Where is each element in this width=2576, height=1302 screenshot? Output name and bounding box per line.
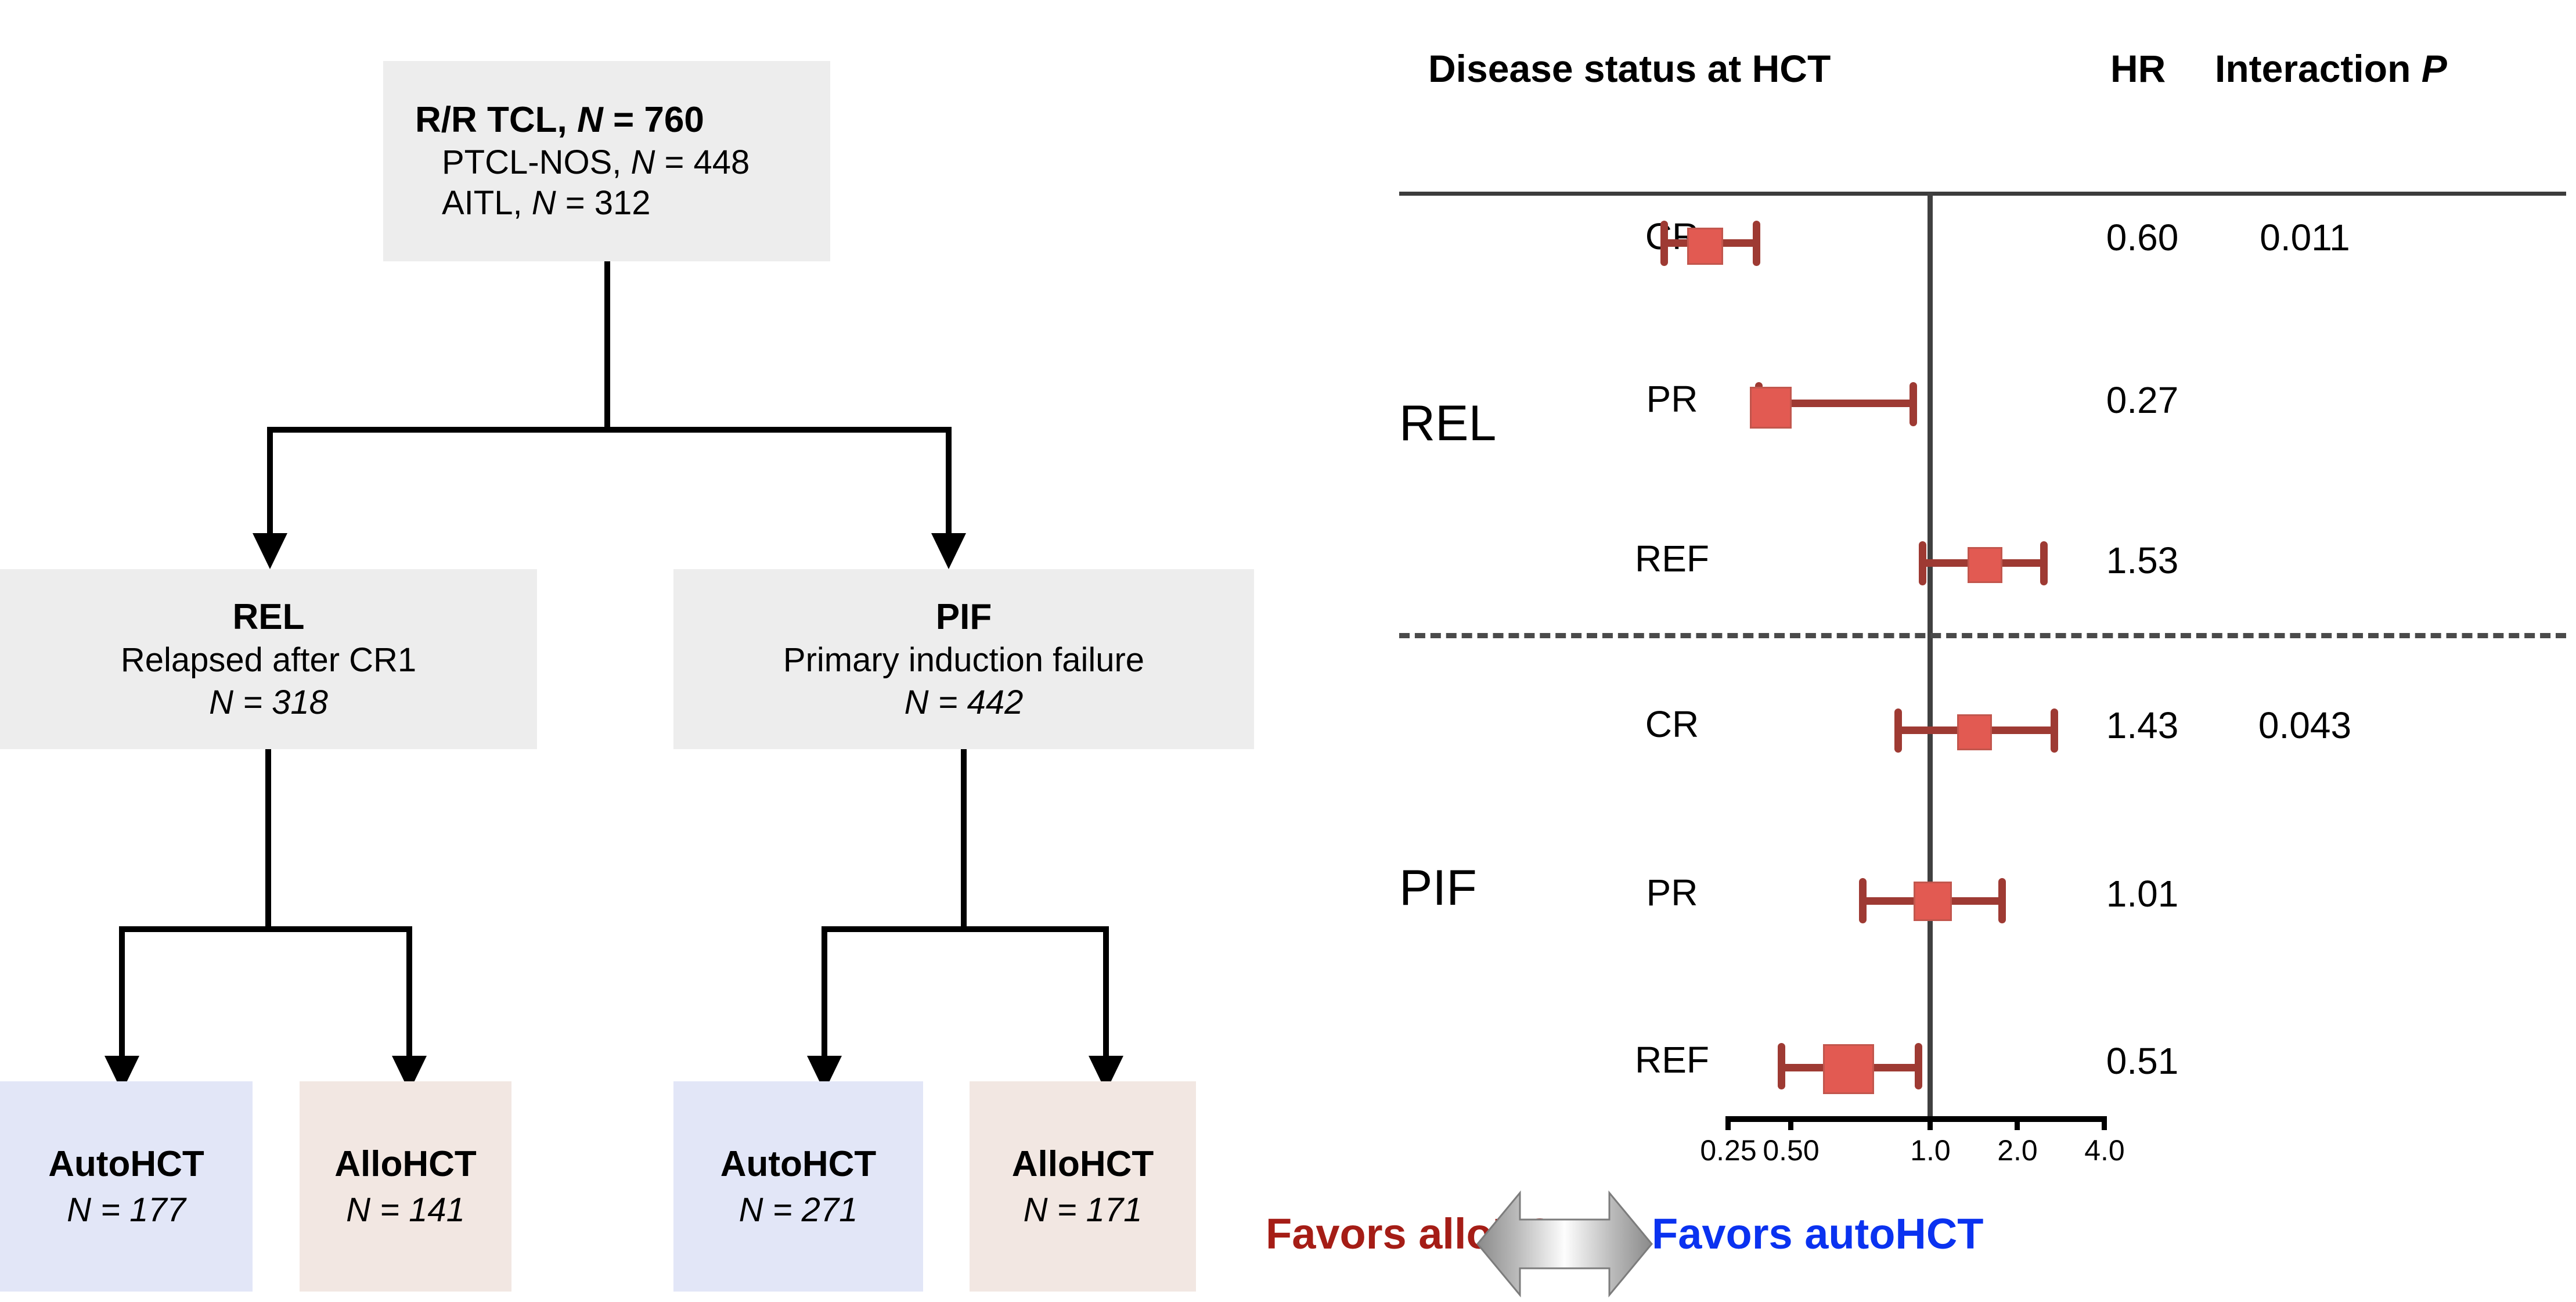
hr-value-pif-ref: 0.51 (2076, 1040, 2209, 1082)
pif-n: N = 442 (905, 682, 1024, 724)
forest-plot-panel: Disease status at HCT HR Interaction P R… (1382, 35, 2576, 1292)
pif-title: PIF (936, 595, 992, 640)
row-label-pif-ref: REF (1614, 1038, 1730, 1081)
ci-cap-low-pif-cr (1894, 708, 1902, 753)
ci-cap-low-rel-cr (1660, 221, 1668, 266)
row-label-rel-ref: REF (1614, 537, 1730, 580)
marker-rel-ref (1968, 547, 2002, 583)
x-tick-label-2: 1.0 (1884, 1134, 1977, 1167)
x-tick-4 (2102, 1116, 2107, 1130)
flowchart-box-rel: REL Relapsed after CR1 N = 318 (0, 569, 537, 749)
ci-cap-low-pif-ref (1778, 1043, 1785, 1089)
arrowhead-to-pif (931, 533, 966, 569)
interaction-p-pif: 0.043 (2212, 704, 2398, 747)
row-label-pif-cr: CR (1614, 703, 1730, 746)
x-tick-3 (2015, 1116, 2020, 1130)
header-interaction-p: Interaction P (2215, 46, 2447, 91)
x-tick-label-1: 0.50 (1733, 1134, 1849, 1167)
ci-cap-high-pif-pr (1998, 878, 2006, 923)
header-hr: HR (2110, 46, 2166, 91)
connector-rel-horizontal (122, 926, 412, 932)
connector-pif-right-down (1103, 926, 1109, 1060)
rel-allohct-title: AlloHCT (334, 1141, 477, 1188)
rel-autohct-n: N = 177 (67, 1188, 186, 1232)
rel-title: REL (233, 595, 305, 640)
connector-rel-trunk (265, 749, 271, 929)
connector-trunk-horizontal (270, 427, 950, 433)
marker-pif-pr (1914, 882, 1952, 921)
top-box-line3: AITL, N = 312 (415, 183, 650, 224)
marker-rel-pr (1750, 387, 1792, 429)
rel-subtitle: Relapsed after CR1 (121, 639, 416, 682)
reference-line (1928, 193, 1933, 1122)
hr-value-pif-cr: 1.43 (2076, 704, 2209, 747)
connector-trunk-vertical (604, 261, 610, 430)
top-box-line2: PTCL-NOS, N = 448 (415, 142, 750, 184)
hr-value-rel-pr: 0.27 (2076, 379, 2209, 422)
connector-right-down (946, 427, 952, 537)
pif-autohct-title: AutoHCT (720, 1141, 877, 1188)
flowchart-panel: R/R TCL, N = 760 PTCL-NOS, N = 448 AITL,… (0, 0, 1382, 1292)
double-arrow-icon (1475, 1186, 1655, 1302)
connector-left-down (267, 427, 273, 537)
interaction-p-rel: 0.011 (2212, 216, 2398, 259)
marker-rel-cr (1687, 228, 1723, 265)
marker-pif-cr (1957, 714, 1992, 750)
connector-pif-trunk (961, 749, 967, 929)
x-tick-label-4: 4.0 (2058, 1134, 2151, 1167)
flowchart-box-pif: PIF Primary induction failure N = 442 (673, 569, 1254, 749)
hr-value-rel-cr: 0.60 (2076, 216, 2209, 259)
top-box-title: R/R TCL, N = 760 (415, 98, 704, 142)
top-rule (1399, 192, 2566, 196)
row-label-pif-pr: PR (1614, 871, 1730, 914)
favors-autohct-label: Favors autoHCT (1652, 1209, 1984, 1258)
group-label-rel: REL (1399, 395, 1496, 452)
x-axis-line (1725, 1116, 2106, 1122)
hr-value-rel-ref: 1.53 (2076, 539, 2209, 582)
ci-cap-high-rel-cr (1753, 221, 1760, 266)
row-label-rel-pr: PR (1614, 377, 1730, 420)
x-tick-1 (1788, 1116, 1793, 1130)
arrowhead-to-rel (253, 533, 287, 569)
flowchart-box-rel-allohct: AlloHCT N = 141 (300, 1081, 511, 1292)
connector-pif-left-down (822, 926, 827, 1060)
pif-autohct-n: N = 271 (739, 1188, 858, 1232)
rel-n: N = 318 (209, 682, 328, 724)
flowchart-box-pif-autohct: AutoHCT N = 271 (673, 1081, 923, 1292)
connector-rel-right-down (406, 926, 412, 1060)
rel-allohct-n: N = 141 (346, 1188, 465, 1232)
header-disease-status: Disease status at HCT (1428, 46, 1831, 91)
marker-pif-ref (1823, 1044, 1874, 1094)
flowchart-box-rel-autohct: AutoHCT N = 177 (0, 1081, 253, 1292)
x-tick-0 (1725, 1116, 1731, 1130)
favors-allohct-label: Favors alloHCT (1266, 1209, 1490, 1258)
ci-cap-high-rel-pr (1910, 382, 1917, 426)
hr-value-pif-pr: 1.01 (2076, 872, 2209, 915)
pif-subtitle: Primary induction failure (783, 639, 1144, 682)
connector-pif-horizontal (824, 926, 1109, 932)
group-label-pif: PIF (1399, 859, 1477, 917)
pif-allohct-title: AlloHCT (1012, 1141, 1154, 1188)
flowchart-box-pif-allohct: AlloHCT N = 171 (970, 1081, 1196, 1292)
ci-cap-low-rel-ref (1919, 541, 1926, 585)
x-tick-2 (1928, 1116, 1933, 1130)
ci-cap-high-rel-ref (2040, 541, 2048, 585)
ci-cap-high-pif-ref (1915, 1043, 1922, 1089)
flowchart-top-box: R/R TCL, N = 760 PTCL-NOS, N = 448 AITL,… (383, 61, 830, 261)
group-separator (1399, 633, 2566, 638)
ci-cap-low-pif-pr (1859, 878, 1867, 923)
rel-autohct-title: AutoHCT (48, 1141, 204, 1188)
x-tick-label-3: 2.0 (1971, 1134, 2064, 1167)
connector-rel-left-down (119, 926, 125, 1060)
header-interaction-p-text: Interaction P (2215, 47, 2447, 90)
ci-cap-high-pif-cr (2051, 708, 2058, 753)
pif-allohct-n: N = 171 (1024, 1188, 1143, 1232)
